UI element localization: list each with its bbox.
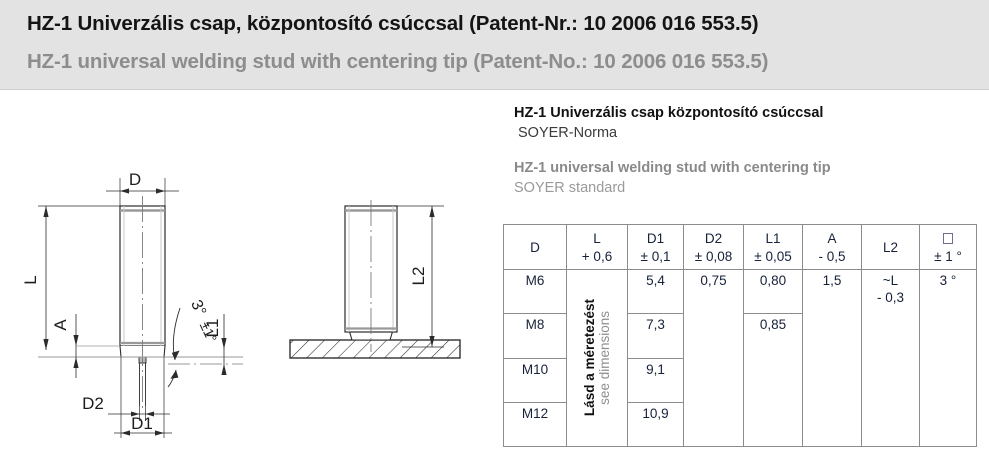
dim-label-d: D: [129, 170, 141, 189]
header-band: HZ-1 Univerzális csap, központosító csúc…: [0, 0, 989, 90]
cell-l-text-hungarian: Lásd a méretezést: [583, 299, 597, 416]
col-header-d2: D2 ± 0,08: [684, 225, 744, 270]
dim-label-d2: D2: [82, 394, 104, 413]
col-header-d1-main: D1: [628, 230, 683, 248]
dimension-table: D L + 0,6 D1 ± 0,1 D2 ± 0,08 L1 ± 0,0: [503, 224, 976, 447]
cell-d-m12: M12: [504, 402, 567, 446]
col-header-d2-main: D2: [684, 230, 743, 248]
dim-label-l: L: [21, 275, 40, 284]
table-header-row: D L + 0,6 D1 ± 0,1 D2 ± 0,08 L1 ± 0,0: [504, 225, 977, 270]
page-title-english: HZ-1 universal welding stud with centeri…: [27, 50, 768, 74]
cell-angle-value: 3 °: [920, 270, 977, 447]
page-title-hungarian: HZ-1 Univerzális csap, központosító csúc…: [27, 12, 758, 36]
cell-l1-first: 0,80: [744, 270, 803, 314]
col-header-d2-tol: ± 0,08: [684, 248, 743, 266]
spec-standard-hungarian: SOYER-Norma: [518, 125, 831, 141]
stud-welded-drawing: L2: [282, 180, 482, 385]
col-header-l1-main: L1: [744, 230, 802, 248]
col-header-l2: L2: [862, 225, 920, 270]
cell-d1-m12: 10,9: [628, 402, 684, 446]
cell-d2-value: 0,75: [684, 270, 744, 447]
spec-standard-english: SOYER standard: [514, 180, 831, 196]
spec-title-english: HZ-1 universal welding stud with centeri…: [514, 160, 831, 176]
col-header-l-main: L: [567, 230, 627, 248]
cell-l2-value: ~L - 0,3: [862, 270, 920, 447]
cell-d1-m8: 7,3: [628, 314, 684, 358]
col-header-a-main: A: [803, 230, 861, 248]
cell-l2-line1: ~L: [883, 273, 898, 288]
col-header-l1-tol: ± 0,05: [744, 248, 802, 266]
dim-label-a: A: [51, 319, 70, 331]
cell-a-value: 1,5: [803, 270, 862, 447]
col-header-a: A - 0,5: [803, 225, 862, 270]
stud-elevation-drawing: D L A L1 D2 D1 3° ±1°: [8, 138, 268, 453]
base-plate: [290, 340, 460, 358]
cell-d1-m6: 5,4: [628, 270, 684, 314]
cell-l-see-dimensions: Lásd a méretezést see dimensions: [567, 270, 628, 447]
dim-label-angle: 3°: [187, 298, 209, 319]
col-header-l1: L1 ± 0,05: [744, 225, 803, 270]
col-header-l: L + 0,6: [567, 225, 628, 270]
col-header-l-tol: + 0,6: [567, 248, 627, 266]
col-header-d-main: D: [504, 239, 566, 257]
angle-symbol-box-icon: [920, 230, 976, 248]
spec-title-hungarian: HZ-1 Univerzális csap központosító csúcc…: [514, 105, 831, 121]
col-header-d1-tol: ± 0,1: [628, 248, 683, 266]
col-header-a-tol: - 0,5: [803, 248, 861, 266]
cell-l-text-english: see dimensions: [598, 311, 612, 405]
cell-d-m6: M6: [504, 270, 567, 314]
cell-l2-line2: - 0,3: [877, 290, 904, 305]
col-header-l2-main: L2: [862, 239, 919, 257]
cell-d-m10: M10: [504, 358, 567, 402]
col-header-angle-tol: ± 1 °: [920, 248, 976, 266]
specification-text-block: HZ-1 Univerzális csap központosító csúcc…: [514, 105, 831, 196]
col-header-d: D: [504, 225, 567, 270]
dim-label-l2: L2: [409, 267, 428, 286]
dim-label-d1: D1: [131, 414, 153, 433]
cell-l1-rest: 0,85: [744, 314, 803, 447]
col-header-angle: ± 1 °: [920, 225, 977, 270]
cell-d-m8: M8: [504, 314, 567, 358]
table-row: M6 Lásd a méretezést see dimensions 5,4 …: [504, 270, 977, 314]
cell-d1-m10: 9,1: [628, 358, 684, 402]
col-header-d1: D1 ± 0,1: [628, 225, 684, 270]
